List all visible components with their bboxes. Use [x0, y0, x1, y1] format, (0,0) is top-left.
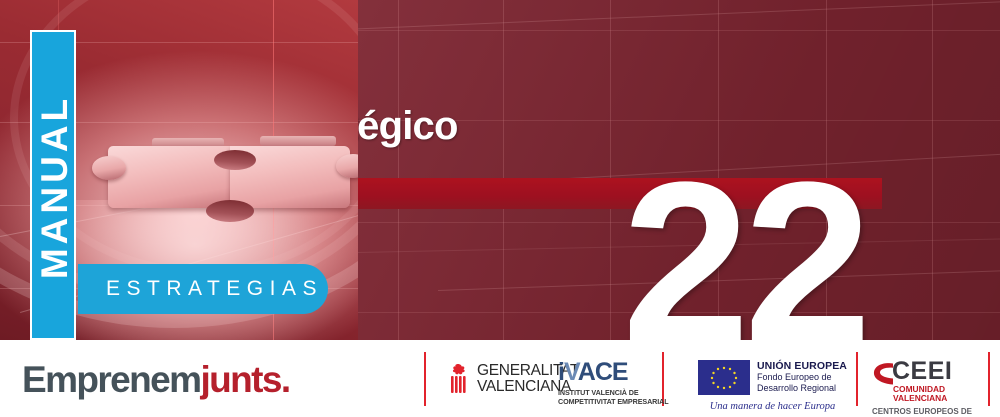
eu-line2: Desarrollo Regional — [757, 383, 847, 393]
cover-page: 22 Proceso deelaboración de unplan estra… — [0, 0, 1000, 417]
ceei-sub-line1: CENTROS EUROPEOS DE — [872, 407, 979, 417]
ceei-wordmark: CEEI — [892, 360, 952, 384]
ivace-v: V — [564, 358, 578, 386]
emprenemjunts-logo[interactable]: Emprenemjunts. — [22, 359, 290, 401]
eu-line1: Fondo Europeo de — [757, 372, 847, 382]
ivace-ace: ACE — [578, 358, 628, 386]
eu-title: UNIÓN EUROPEA — [757, 360, 847, 372]
cover-photo: MANUAL ESTRATEGIAS — [0, 0, 358, 340]
puzzle-pieces-graphic — [108, 128, 358, 248]
bat-shield-icon — [445, 363, 471, 395]
ceei-subtitle: CENTROS EUROPEOS DE EMPRESAS INNOVADORAS — [872, 407, 979, 417]
ivace-wordmark: iVACE — [558, 360, 669, 385]
eu-flag-icon — [698, 360, 750, 395]
ivace-sub-line2: COMPETITIVITAT EMPRESARIAL — [558, 397, 669, 406]
ceei-arc-icon — [872, 361, 894, 387]
european-union-logo[interactable]: UNIÓN EUROPEA Fondo Europeo de Desarroll… — [698, 360, 847, 412]
sponsor-footer: Emprenemjunts. GENERALITAT VALENCIANA — [0, 340, 1000, 417]
chapter-number: 22 — [622, 148, 866, 340]
emprenemjunts-part2: junts. — [200, 359, 289, 400]
ivace-sub-line1: INSTITUT VALENCIÀ DE — [558, 388, 669, 397]
footer-divider — [988, 352, 990, 406]
ceei-logo[interactable]: CEEI COMUNIDAD VALENCIANA CENTROS EUROPE… — [872, 360, 979, 417]
manual-spine: MANUAL — [30, 30, 76, 340]
ceei-cv-line2: VALENCIANA — [893, 394, 952, 404]
category-pill-label: ESTRATEGIAS — [78, 277, 323, 301]
ivace-subtitle: INSTITUT VALENCIÀ DE COMPETITIVITAT EMPR… — [558, 388, 669, 406]
footer-divider — [856, 352, 858, 406]
category-pill: ESTRATEGIAS — [78, 264, 328, 314]
ceei-cv: COMUNIDAD VALENCIANA — [893, 385, 952, 404]
eu-slogan: Una manera de hacer Europa — [698, 401, 847, 412]
eu-wordmark: UNIÓN EUROPEA Fondo Europeo de Desarroll… — [757, 360, 847, 393]
manual-label: MANUAL — [32, 32, 78, 340]
ivace-logo[interactable]: iVACE INSTITUT VALENCIÀ DE COMPETITIVITA… — [558, 360, 669, 406]
footer-divider — [424, 352, 426, 406]
cover-hero: 22 Proceso deelaboración de unplan estra… — [0, 0, 1000, 340]
emprenemjunts-part1: Emprenem — [22, 359, 200, 400]
